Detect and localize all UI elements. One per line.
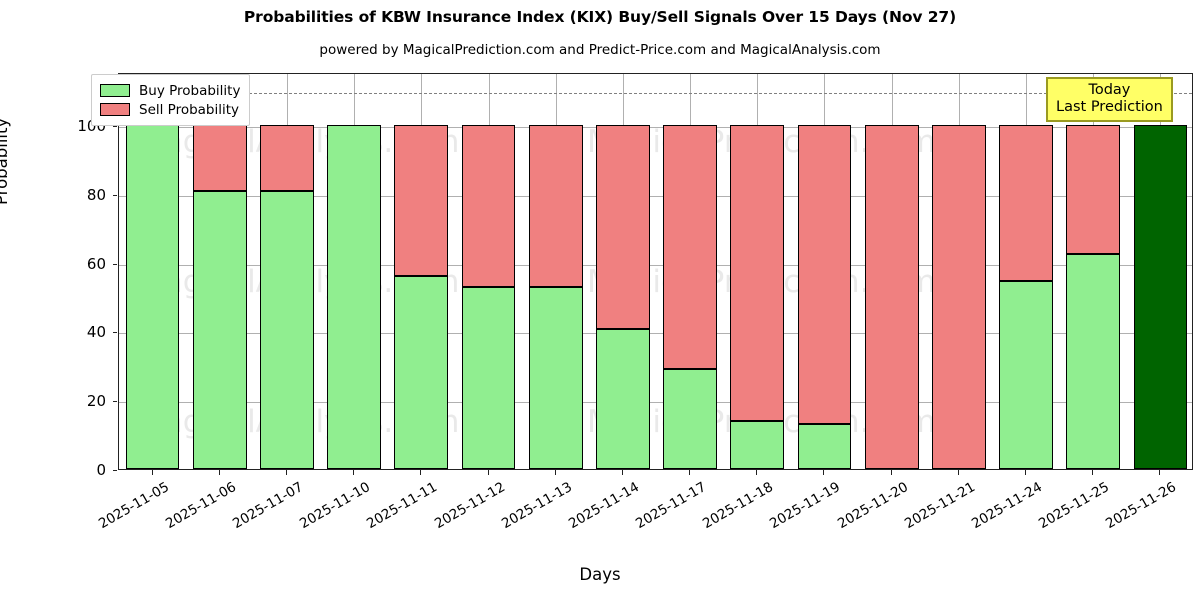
x-tick-mark	[689, 470, 690, 475]
y-tick-mark	[113, 470, 117, 471]
bar-segment-buy[interactable]	[126, 125, 180, 469]
x-tick-mark	[891, 470, 892, 475]
bar-group[interactable]	[462, 74, 516, 469]
bar-group[interactable]	[260, 74, 314, 469]
bar-group[interactable]	[596, 74, 650, 469]
x-tick-mark	[1092, 470, 1093, 475]
y-tick-label: 20	[46, 394, 106, 409]
y-tick-label: 60	[46, 257, 106, 272]
x-tick-mark	[1025, 470, 1026, 475]
y-axis-label: Probability	[0, 118, 11, 205]
x-tick-label: 2025-11-14	[566, 479, 642, 532]
y-tick-mark	[113, 126, 117, 127]
bar-segment-sell[interactable]	[462, 125, 516, 287]
x-tick-label: 2025-11-12	[432, 479, 508, 532]
x-tick-mark	[1159, 470, 1160, 475]
x-axis-label: Days	[0, 565, 1200, 584]
bar-segment-today[interactable]	[1134, 125, 1188, 469]
bar-group[interactable]	[327, 74, 381, 469]
bar-segment-sell[interactable]	[932, 125, 986, 469]
legend-label: Sell Probability	[139, 102, 239, 118]
bar-segment-sell[interactable]	[529, 125, 583, 287]
bar-segment-buy[interactable]	[730, 421, 784, 469]
x-tick-label: 2025-11-05	[96, 479, 172, 532]
bar-segment-buy[interactable]	[596, 329, 650, 469]
legend-item[interactable]: Buy Probability	[100, 81, 240, 100]
plot-area: MagicalAnalysis.comMagicalPrediction.com…	[118, 73, 1193, 470]
bar-segment-buy[interactable]	[529, 287, 583, 469]
chart-title: Probabilities of KBW Insurance Index (KI…	[0, 8, 1200, 26]
chart-legend: Buy ProbabilitySell Probability	[91, 74, 250, 126]
bar-group[interactable]	[1134, 74, 1188, 469]
x-tick-label: 2025-11-07	[230, 479, 306, 532]
legend-label: Buy Probability	[139, 83, 240, 99]
bar-group[interactable]	[663, 74, 717, 469]
chart-figure: Probabilities of KBW Insurance Index (KI…	[0, 0, 1200, 600]
x-tick-label: 2025-11-20	[835, 479, 911, 532]
y-tick-mark	[113, 195, 117, 196]
bar-segment-sell[interactable]	[394, 125, 448, 276]
x-tick-label: 2025-11-06	[163, 479, 239, 532]
bar-group[interactable]	[394, 74, 448, 469]
bar-segment-sell[interactable]	[730, 125, 784, 421]
x-tick-mark	[555, 470, 556, 475]
x-tick-mark	[823, 470, 824, 475]
bar-segment-buy[interactable]	[1066, 254, 1120, 469]
bar-segment-buy[interactable]	[394, 276, 448, 469]
x-tick-label: 2025-11-26	[1103, 479, 1179, 532]
bar-group[interactable]	[529, 74, 583, 469]
bar-segment-buy[interactable]	[798, 424, 852, 469]
y-tick-label: 40	[46, 325, 106, 340]
x-tick-mark	[219, 470, 220, 475]
today-annotation: Today Last Prediction	[1046, 77, 1173, 122]
bar-segment-sell[interactable]	[596, 125, 650, 329]
today-annotation-line2: Last Prediction	[1056, 99, 1163, 116]
bar-segment-sell[interactable]	[663, 125, 717, 369]
bar-group[interactable]	[865, 74, 919, 469]
bar-segment-buy[interactable]	[663, 369, 717, 469]
bar-group[interactable]	[932, 74, 986, 469]
x-tick-label: 2025-11-11	[364, 479, 440, 532]
x-tick-label: 2025-11-18	[700, 479, 776, 532]
bar-group[interactable]	[798, 74, 852, 469]
bar-segment-sell[interactable]	[193, 125, 247, 191]
y-tick-mark	[113, 264, 117, 265]
y-tick-mark	[113, 401, 117, 402]
x-tick-mark	[152, 470, 153, 475]
legend-swatch-sell	[100, 103, 130, 116]
bar-segment-buy[interactable]	[260, 191, 314, 469]
legend-item[interactable]: Sell Probability	[100, 100, 240, 119]
bar-segment-buy[interactable]	[999, 281, 1053, 469]
bar-segment-sell[interactable]	[260, 125, 314, 191]
x-tick-mark	[286, 470, 287, 475]
bar-group[interactable]	[193, 74, 247, 469]
bar-segment-sell[interactable]	[999, 125, 1053, 281]
x-tick-mark	[958, 470, 959, 475]
bar-segment-sell[interactable]	[1066, 125, 1120, 254]
bar-segment-sell[interactable]	[865, 125, 919, 469]
bar-segment-buy[interactable]	[327, 125, 381, 469]
bar-group[interactable]	[999, 74, 1053, 469]
bar-segment-buy[interactable]	[193, 191, 247, 469]
x-tick-mark	[420, 470, 421, 475]
x-tick-label: 2025-11-21	[902, 479, 978, 532]
x-tick-mark	[488, 470, 489, 475]
y-tick-label: 0	[46, 463, 106, 478]
plot-inner: MagicalAnalysis.comMagicalPrediction.com…	[119, 74, 1192, 469]
bar-group[interactable]	[1066, 74, 1120, 469]
x-tick-label: 2025-11-19	[768, 479, 844, 532]
x-tick-mark	[622, 470, 623, 475]
legend-swatch-buy	[100, 84, 130, 97]
bar-segment-buy[interactable]	[462, 287, 516, 469]
today-annotation-line1: Today	[1056, 82, 1163, 99]
chart-subtitle: powered by MagicalPrediction.com and Pre…	[0, 42, 1200, 58]
x-tick-label: 2025-11-13	[499, 479, 575, 532]
bar-segment-sell[interactable]	[798, 125, 852, 424]
x-tick-label: 2025-11-17	[633, 479, 709, 532]
x-tick-label: 2025-11-10	[297, 479, 373, 532]
x-tick-label: 2025-11-24	[969, 479, 1045, 532]
x-tick-mark	[756, 470, 757, 475]
y-tick-label: 80	[46, 188, 106, 203]
x-tick-mark	[353, 470, 354, 475]
bar-group[interactable]	[126, 74, 180, 469]
bar-group[interactable]	[730, 74, 784, 469]
y-tick-mark	[113, 332, 117, 333]
x-tick-label: 2025-11-25	[1036, 479, 1112, 532]
